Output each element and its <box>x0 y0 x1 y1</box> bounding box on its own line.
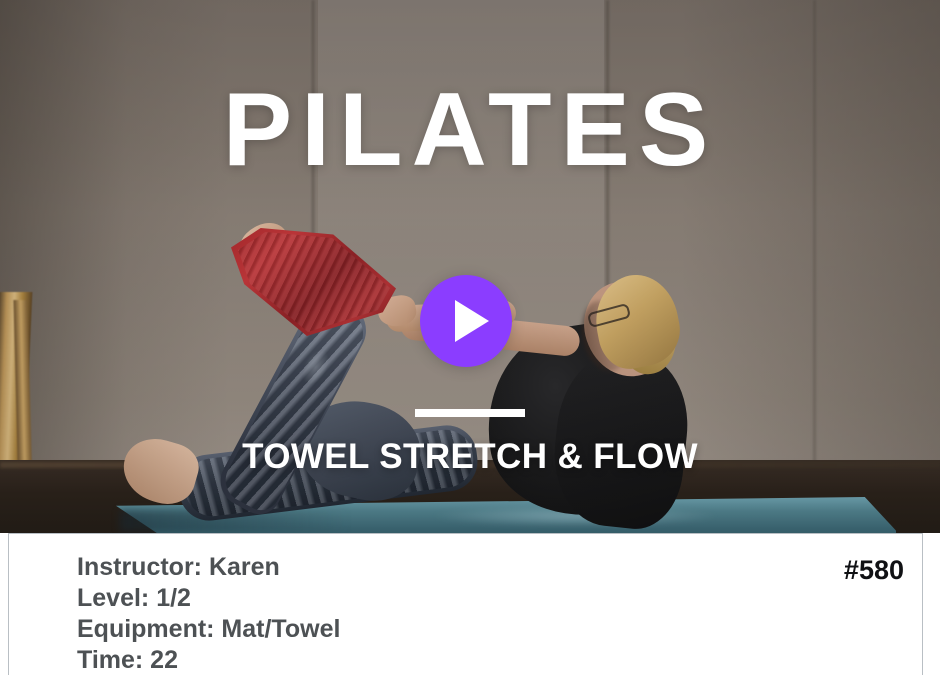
vertical-scrollbar[interactable] <box>924 533 940 675</box>
equipment-label: Equipment: Mat/Towel <box>77 614 340 645</box>
video-thumbnail[interactable]: PILATES TOWEL STRETCH & FLOW <box>0 0 940 533</box>
video-info-card: Instructor: Karen Level: 1/2 Equipment: … <box>8 533 923 675</box>
level-label: Level: 1/2 <box>77 583 340 614</box>
video-number-badge: #580 <box>844 555 904 586</box>
instructor-label: Instructor: Karen <box>77 552 340 583</box>
play-button[interactable] <box>420 275 512 367</box>
pilates-video-card: PILATES TOWEL STRETCH & FLOW Instructor:… <box>0 0 940 675</box>
time-label: Time: 22 <box>77 645 340 675</box>
play-icon <box>455 300 489 342</box>
video-metadata-list: Instructor: Karen Level: 1/2 Equipment: … <box>77 552 340 675</box>
instructor-figure <box>0 0 940 533</box>
